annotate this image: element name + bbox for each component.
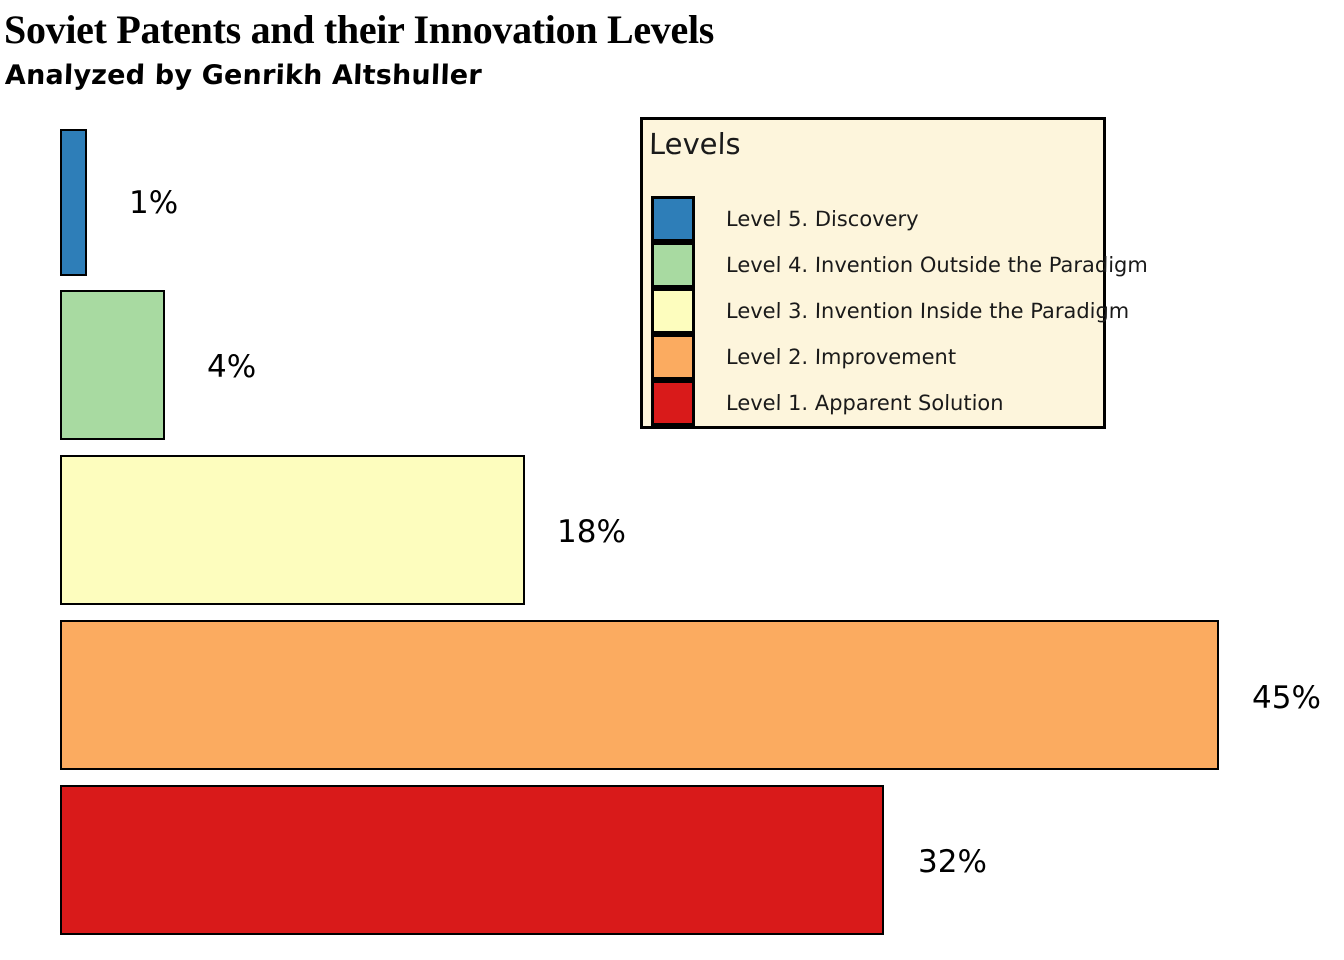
legend-swatch-icon-level-2 xyxy=(651,334,695,380)
legend: Levels Level 5. Discovery Level 4. Inven… xyxy=(640,117,1106,429)
legend-item-level-2[interactable]: Level 2. Improvement xyxy=(651,334,1101,380)
legend-swatch-icon-level-3 xyxy=(651,288,695,334)
legend-label-level-2: Level 2. Improvement xyxy=(726,334,957,380)
bar-value-label-level-2: 45% xyxy=(1252,680,1321,716)
legend-swatch-icon-level-1 xyxy=(651,380,695,426)
bar-value-label-level-3: 18% xyxy=(557,514,626,550)
legend-label-level-5: Level 5. Discovery xyxy=(726,196,919,242)
legend-label-level-4: Level 4. Invention Outside the Paradigm xyxy=(726,242,1149,288)
legend-item-level-1[interactable]: Level 1. Apparent Solution xyxy=(651,380,1101,426)
legend-title: Levels xyxy=(649,127,741,161)
bar-level-1 xyxy=(60,785,884,935)
legend-label-level-1: Level 1. Apparent Solution xyxy=(726,380,1004,426)
bar-value-label-level-1: 32% xyxy=(918,844,987,880)
bar-level-3 xyxy=(60,455,525,605)
bar-level-5 xyxy=(60,129,87,276)
legend-item-level-5[interactable]: Level 5. Discovery xyxy=(651,196,1101,242)
legend-swatch-icon-level-4 xyxy=(651,242,695,288)
bar-value-label-level-5: 1% xyxy=(129,185,178,221)
bar-value-label-level-4: 4% xyxy=(207,349,256,385)
bar-level-4 xyxy=(60,290,165,440)
bar-level-2 xyxy=(60,620,1219,770)
legend-item-level-3[interactable]: Level 3. Invention Inside the Paradigm xyxy=(651,288,1101,334)
legend-label-level-3: Level 3. Invention Inside the Paradigm xyxy=(726,288,1130,334)
legend-entry-list: Level 5. Discovery Level 4. Invention Ou… xyxy=(651,196,1101,426)
legend-item-level-4[interactable]: Level 4. Invention Outside the Paradigm xyxy=(651,242,1101,288)
legend-swatch-icon-level-5 xyxy=(651,196,695,242)
